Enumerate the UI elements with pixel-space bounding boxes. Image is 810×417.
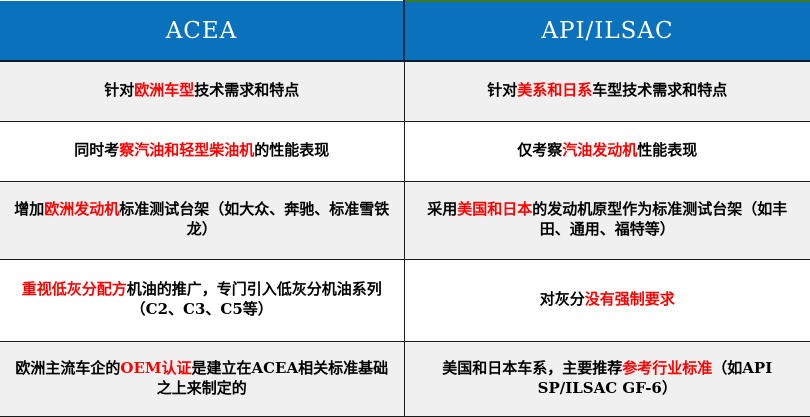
header-row: ACEA API/ILSAC	[0, 1, 810, 61]
comparison-table-container: ACEA API/ILSAC 针对欧洲车型技术需求和特点 针对美系和日系车型技术…	[0, 0, 810, 417]
cell-api-row-2: 仅考察汽油发动机性能表现	[404, 121, 810, 181]
text-prefix: 仅考察	[517, 141, 562, 159]
text-highlight: 美系和日系	[517, 81, 592, 99]
column-header-acea: ACEA	[0, 1, 404, 61]
table-row: 欧洲主流车企的OEM认证是建立在ACEA相关标准基础之上来制定的 美国和日本车系…	[0, 341, 810, 416]
text-suffix: 性能表现	[637, 141, 697, 159]
text-highlight: 察汽油和轻型柴油机	[119, 141, 254, 159]
cell-acea-row-5: 欧洲主流车企的OEM认证是建立在ACEA相关标准基础之上来制定的	[0, 341, 404, 416]
cell-acea-row-5-text: 欧洲主流车企的OEM认证是建立在ACEA相关标准基础之上来制定的	[9, 359, 395, 399]
acea-vs-api-comparison-table: ACEA API/ILSAC 针对欧洲车型技术需求和特点 针对美系和日系车型技术…	[0, 0, 810, 417]
column-header-api-ilsac: API/ILSAC	[404, 1, 810, 61]
text-suffix: 的性能表现	[254, 141, 329, 159]
cell-api-row-3: 采用美国和日本的发动机原型作为标准测试台架（如丰田、通用、福特等）	[404, 181, 810, 259]
text-prefix: 针对	[487, 81, 517, 99]
cell-api-row-4-text: 对灰分没有强制要求	[414, 290, 802, 310]
cell-acea-row-2-text: 同时考察汽油和轻型柴油机的性能表现	[9, 141, 395, 161]
table-row: 同时考察汽油和轻型柴油机的性能表现 仅考察汽油发动机性能表现	[0, 121, 810, 181]
table-header: ACEA API/ILSAC	[0, 1, 810, 61]
cell-acea-row-4: 重视低灰分配方机油的推广，专门引入低灰分机油系列（C2、C3、C5等）	[0, 259, 404, 341]
text-prefix: 欧洲主流车企的	[15, 359, 120, 377]
text-suffix: 机油的推广，专门引入低灰分机油系列（C2、C3、C5等）	[127, 280, 382, 318]
text-highlight: 美国和日本	[457, 200, 532, 218]
text-prefix: 增加	[14, 200, 44, 218]
cell-api-row-1-text: 针对美系和日系车型技术需求和特点	[414, 81, 802, 101]
text-highlight: 汽油发动机	[562, 141, 637, 159]
text-highlight: 参考行业标准	[622, 359, 712, 377]
table-row: 针对欧洲车型技术需求和特点 针对美系和日系车型技术需求和特点	[0, 61, 810, 121]
text-suffix: 的发动机原型作为标准测试台架（如丰田、通用、福特等）	[532, 200, 787, 238]
cell-acea-row-3-text: 增加欧洲发动机标准测试台架（如大众、奔驰、标准雪铁龙）	[9, 200, 395, 240]
text-highlight: 欧洲发动机	[44, 200, 119, 218]
text-highlight: 没有强制要求	[585, 290, 675, 308]
cell-acea-row-1-text: 针对欧洲车型技术需求和特点	[9, 81, 395, 101]
text-suffix: 车型技术需求和特点	[592, 81, 727, 99]
cell-api-row-5-text: 美国和日本车系，主要推荐参考行业标准（如API SP/ILSAC GF-6）	[414, 359, 802, 399]
column-header-acea-label: ACEA	[166, 18, 238, 44]
text-prefix: 对灰分	[540, 290, 585, 308]
table-body: 针对欧洲车型技术需求和特点 针对美系和日系车型技术需求和特点 同时考察汽油和轻型…	[0, 61, 810, 416]
text-prefix: 同时考	[74, 141, 119, 159]
cell-api-row-3-text: 采用美国和日本的发动机原型作为标准测试台架（如丰田、通用、福特等）	[414, 200, 802, 240]
text-prefix: 针对	[104, 81, 134, 99]
cell-api-row-5: 美国和日本车系，主要推荐参考行业标准（如API SP/ILSAC GF-6）	[404, 341, 810, 416]
text-highlight: OEM认证	[120, 359, 191, 377]
table-row: 增加欧洲发动机标准测试台架（如大众、奔驰、标准雪铁龙） 采用美国和日本的发动机原…	[0, 181, 810, 259]
cell-api-row-4: 对灰分没有强制要求	[404, 259, 810, 341]
cell-acea-row-3: 增加欧洲发动机标准测试台架（如大众、奔驰、标准雪铁龙）	[0, 181, 404, 259]
cell-api-row-1: 针对美系和日系车型技术需求和特点	[404, 61, 810, 121]
text-suffix: 技术需求和特点	[194, 81, 299, 99]
cell-acea-row-1: 针对欧洲车型技术需求和特点	[0, 61, 404, 121]
column-header-api-ilsac-label: API/ILSAC	[541, 18, 673, 44]
text-suffix: 标准测试台架（如大众、奔驰、标准雪铁龙）	[119, 200, 389, 238]
cell-acea-row-4-text: 重视低灰分配方机油的推广，专门引入低灰分机油系列（C2、C3、C5等）	[9, 280, 395, 320]
text-highlight: 欧洲车型	[134, 81, 194, 99]
text-prefix: 美国和日本车系，主要推荐	[442, 359, 622, 377]
text-suffix: 是建立在ACEA相关标准基础之上来制定的	[157, 359, 388, 397]
table-row: 重视低灰分配方机油的推广，专门引入低灰分机油系列（C2、C3、C5等） 对灰分没…	[0, 259, 810, 341]
text-highlight: 重视低灰分配方	[22, 280, 127, 298]
text-prefix: 采用	[427, 200, 457, 218]
cell-api-row-2-text: 仅考察汽油发动机性能表现	[414, 141, 802, 161]
cell-acea-row-2: 同时考察汽油和轻型柴油机的性能表现	[0, 121, 404, 181]
